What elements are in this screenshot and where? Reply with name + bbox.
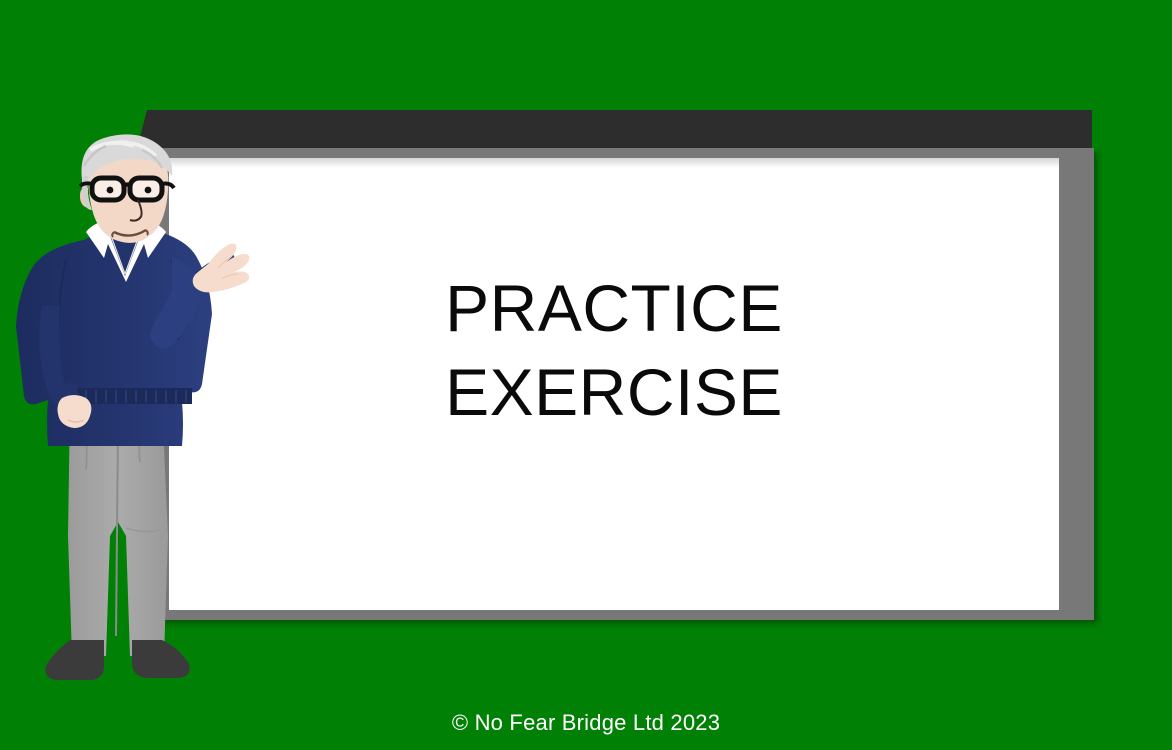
presenter-illustration bbox=[22, 136, 242, 681]
screen-top-shadow bbox=[169, 158, 1059, 168]
slide-title: PRACTICE EXERCISE bbox=[169, 266, 1059, 435]
presentation-board: PRACTICE EXERCISE bbox=[137, 110, 1097, 622]
board-screen: PRACTICE EXERCISE bbox=[169, 158, 1059, 610]
slide-title-line-2: EXERCISE bbox=[169, 350, 1059, 434]
slide-title-line-1: PRACTICE bbox=[169, 266, 1059, 350]
footer-copyright: © No Fear Bridge Ltd 2023 bbox=[0, 710, 1172, 736]
slide-canvas: PRACTICE EXERCISE bbox=[0, 0, 1172, 750]
shoes bbox=[45, 640, 189, 680]
